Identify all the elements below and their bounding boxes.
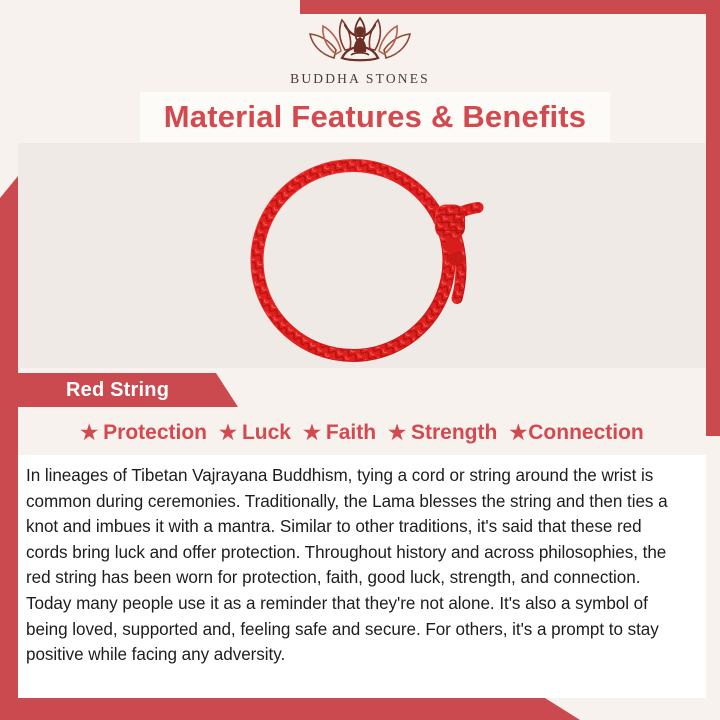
- benefit-connection: ★ Connection: [509, 421, 643, 445]
- star-icon: ★: [219, 423, 237, 443]
- description-text: In lineages of Tibetan Vajrayana Buddhis…: [26, 463, 684, 668]
- brand-logo: BUDDHA STONES: [0, 14, 720, 92]
- benefit-protection: ★ Protection: [80, 421, 207, 445]
- benefit-label: Luck: [242, 421, 291, 445]
- page-title: Material Features & Benefits: [164, 99, 587, 135]
- benefit-strength: ★ Strength: [388, 421, 497, 445]
- left-red-border: [0, 176, 18, 700]
- benefit-label: Strength: [411, 421, 497, 445]
- brand-name: BUDDHA STONES: [290, 71, 430, 87]
- infographic-page: BUDDHA STONES Material Features & Benefi…: [0, 0, 720, 720]
- bottom-red-border: [0, 698, 580, 720]
- product-name-label: Red String: [66, 379, 169, 402]
- benefit-label: Protection: [103, 421, 207, 445]
- hero-section: [18, 143, 706, 368]
- star-icon: ★: [509, 423, 527, 443]
- product-name-banner: Red String: [18, 373, 238, 407]
- benefits-row: ★ Protection ★ Luck ★ Faith ★ Strength ★…: [18, 412, 706, 454]
- lotus-meditation-icon: [304, 14, 416, 70]
- star-icon: ★: [80, 423, 98, 443]
- benefit-label: Faith: [326, 421, 376, 445]
- title-banner: Material Features & Benefits: [140, 92, 610, 142]
- red-braided-string-bracelet-image: [222, 148, 502, 363]
- description-panel: In lineages of Tibetan Vajrayana Buddhis…: [18, 455, 706, 698]
- benefit-faith: ★ Faith: [303, 421, 376, 445]
- star-icon: ★: [303, 423, 321, 443]
- star-icon: ★: [388, 423, 406, 443]
- benefit-label: Connection: [528, 421, 644, 445]
- top-right-red-border: [300, 0, 720, 14]
- benefit-luck: ★ Luck: [219, 421, 291, 445]
